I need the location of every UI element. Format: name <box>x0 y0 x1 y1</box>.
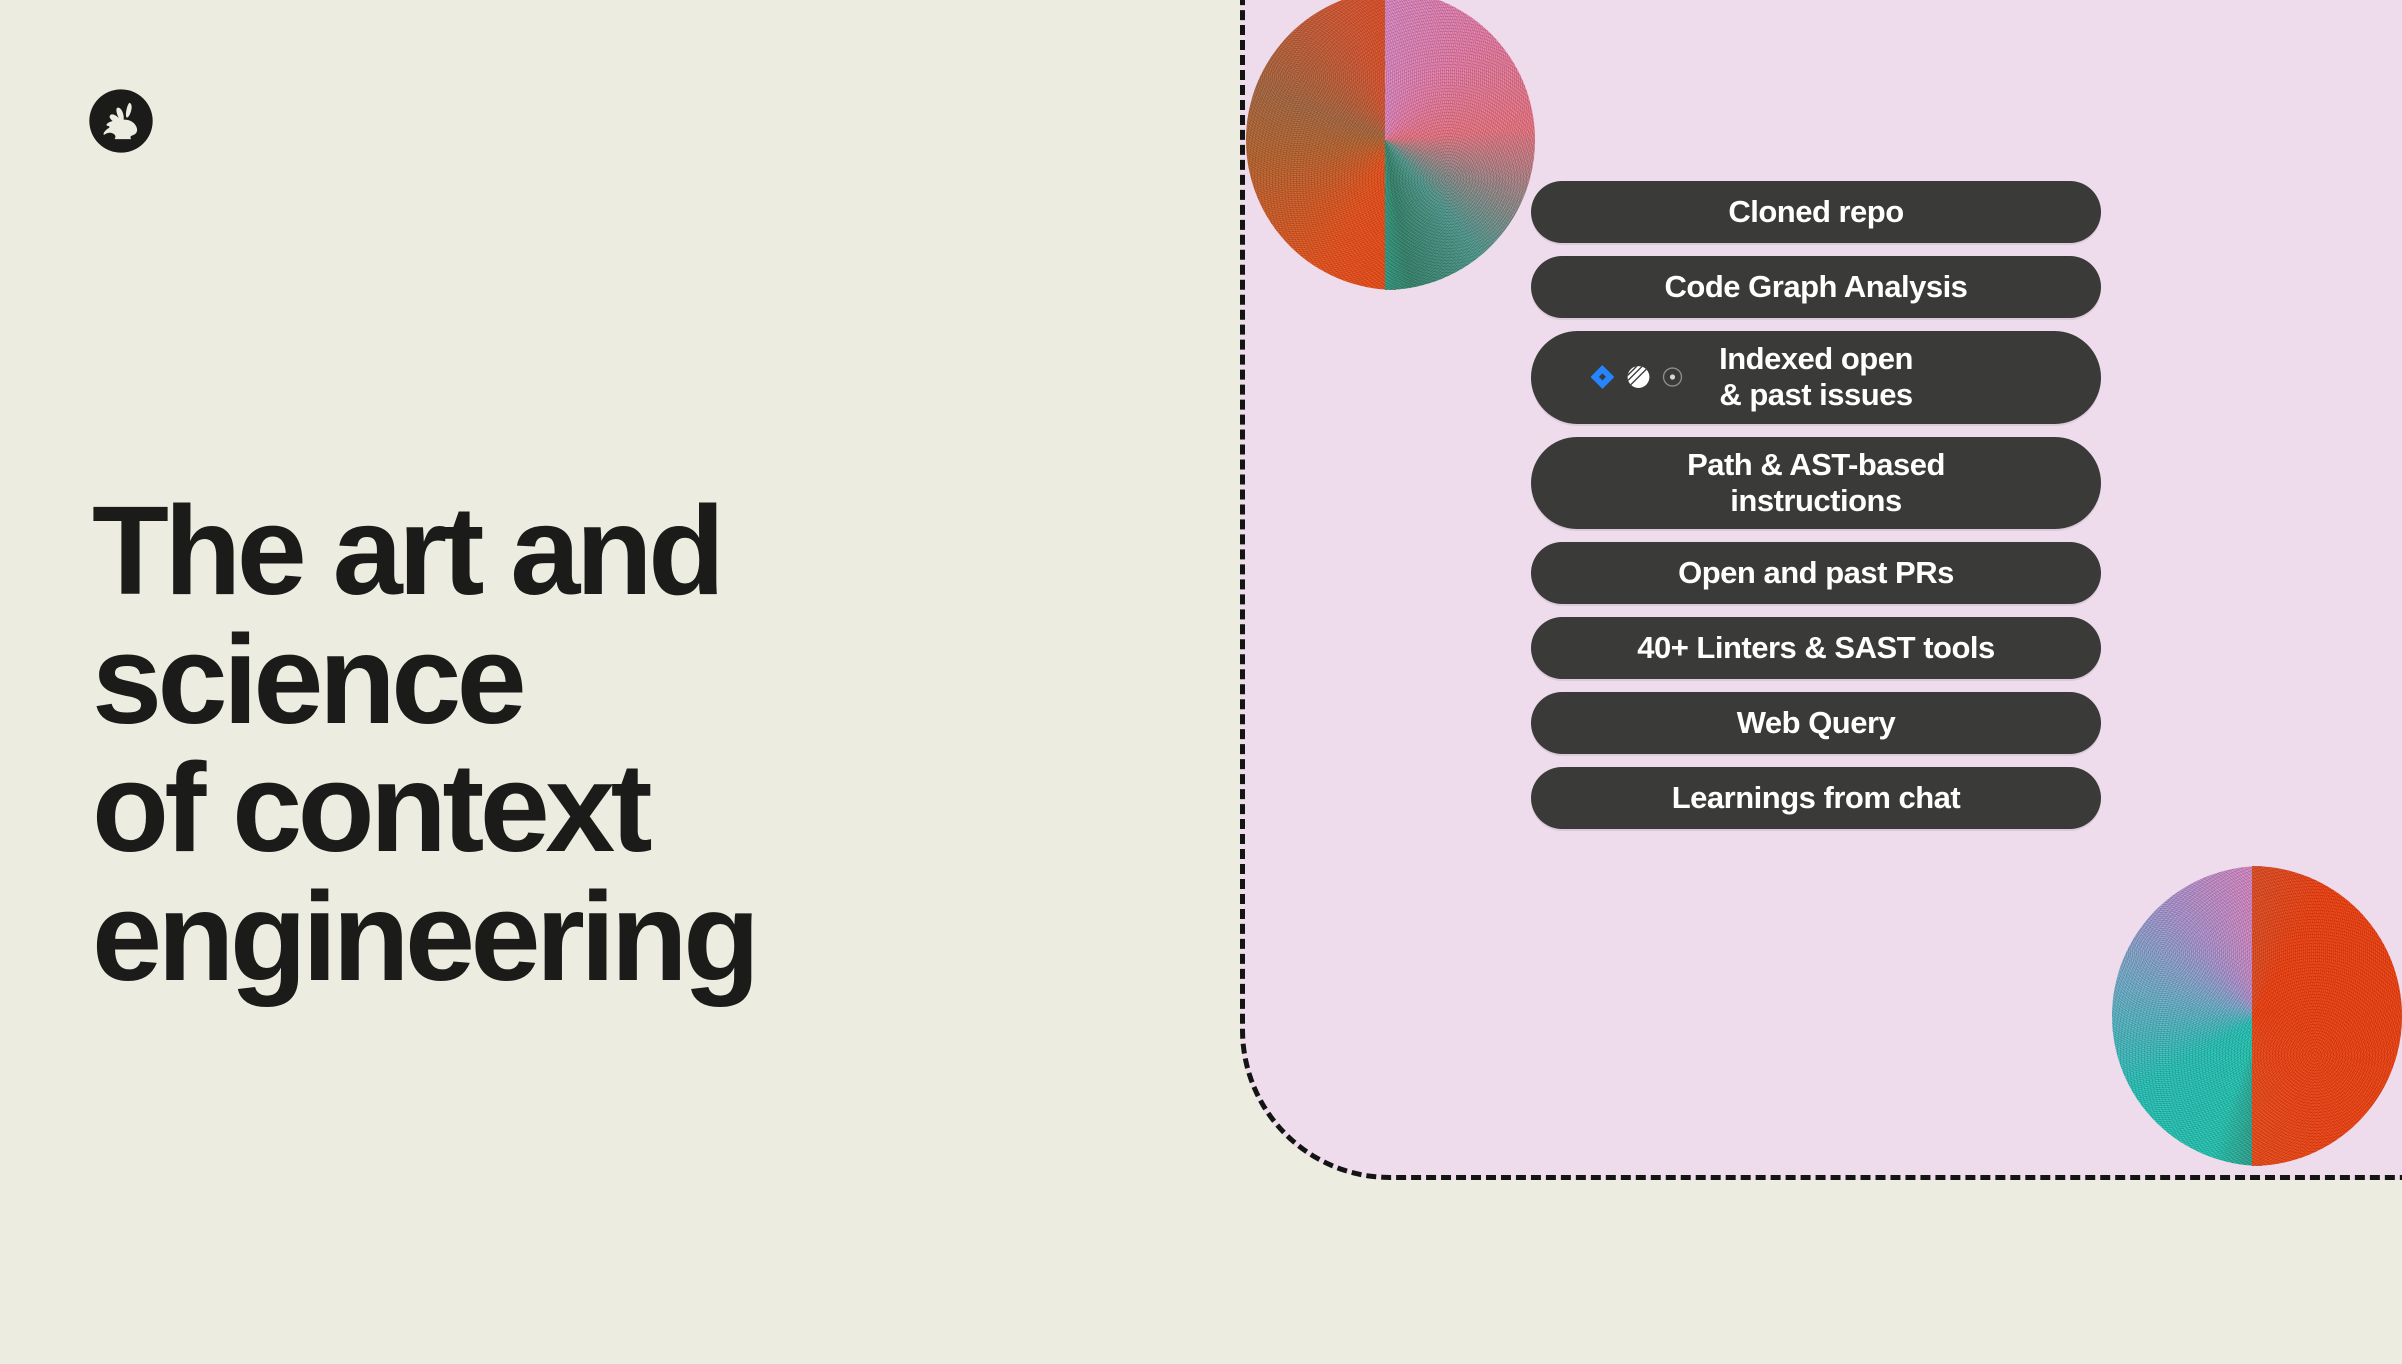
coderabbit-rabbit-logo <box>88 88 154 154</box>
context-pill-ast-instructions[interactable]: Path & AST-based instructions <box>1531 437 2101 530</box>
context-pill-web-query[interactable]: Web Query <box>1531 692 2101 754</box>
context-pill-cloned-repo[interactable]: Cloned repo <box>1531 181 2101 243</box>
context-pill-label: Code Graph Analysis <box>1665 269 1968 305</box>
context-pill-label: Open and past PRs <box>1678 555 1954 591</box>
context-pill-label: Learnings from chat <box>1672 780 1961 816</box>
context-pill-label: Web Query <box>1737 705 1896 741</box>
context-pill-prs[interactable]: Open and past PRs <box>1531 542 2101 604</box>
context-pill-label: Cloned repo <box>1728 194 1903 230</box>
context-pill-label: 40+ Linters & SAST tools <box>1637 630 1995 666</box>
context-source-list: Cloned repo Code Graph Analysis <box>1531 181 2101 829</box>
context-pill-code-graph[interactable]: Code Graph Analysis <box>1531 256 2101 318</box>
page-title: The art and science of context engineeri… <box>92 487 1172 1001</box>
linear-icon <box>1626 365 1651 390</box>
context-pill-label: Path & AST-based instructions <box>1687 447 1945 520</box>
context-pill-linters[interactable]: 40+ Linters & SAST tools <box>1531 617 2101 679</box>
issue-source-icons <box>1589 364 1684 391</box>
context-pill-label: Indexed open & past issues <box>1719 341 1913 414</box>
context-pill-indexed-issues[interactable]: Indexed open & past issues <box>1531 331 2101 424</box>
context-pill-chat-learnings[interactable]: Learnings from chat <box>1531 767 2101 829</box>
github-issue-icon <box>1661 366 1684 389</box>
jira-icon <box>1589 364 1616 391</box>
slide-canvas: The art and science of context engineeri… <box>0 0 2402 1364</box>
